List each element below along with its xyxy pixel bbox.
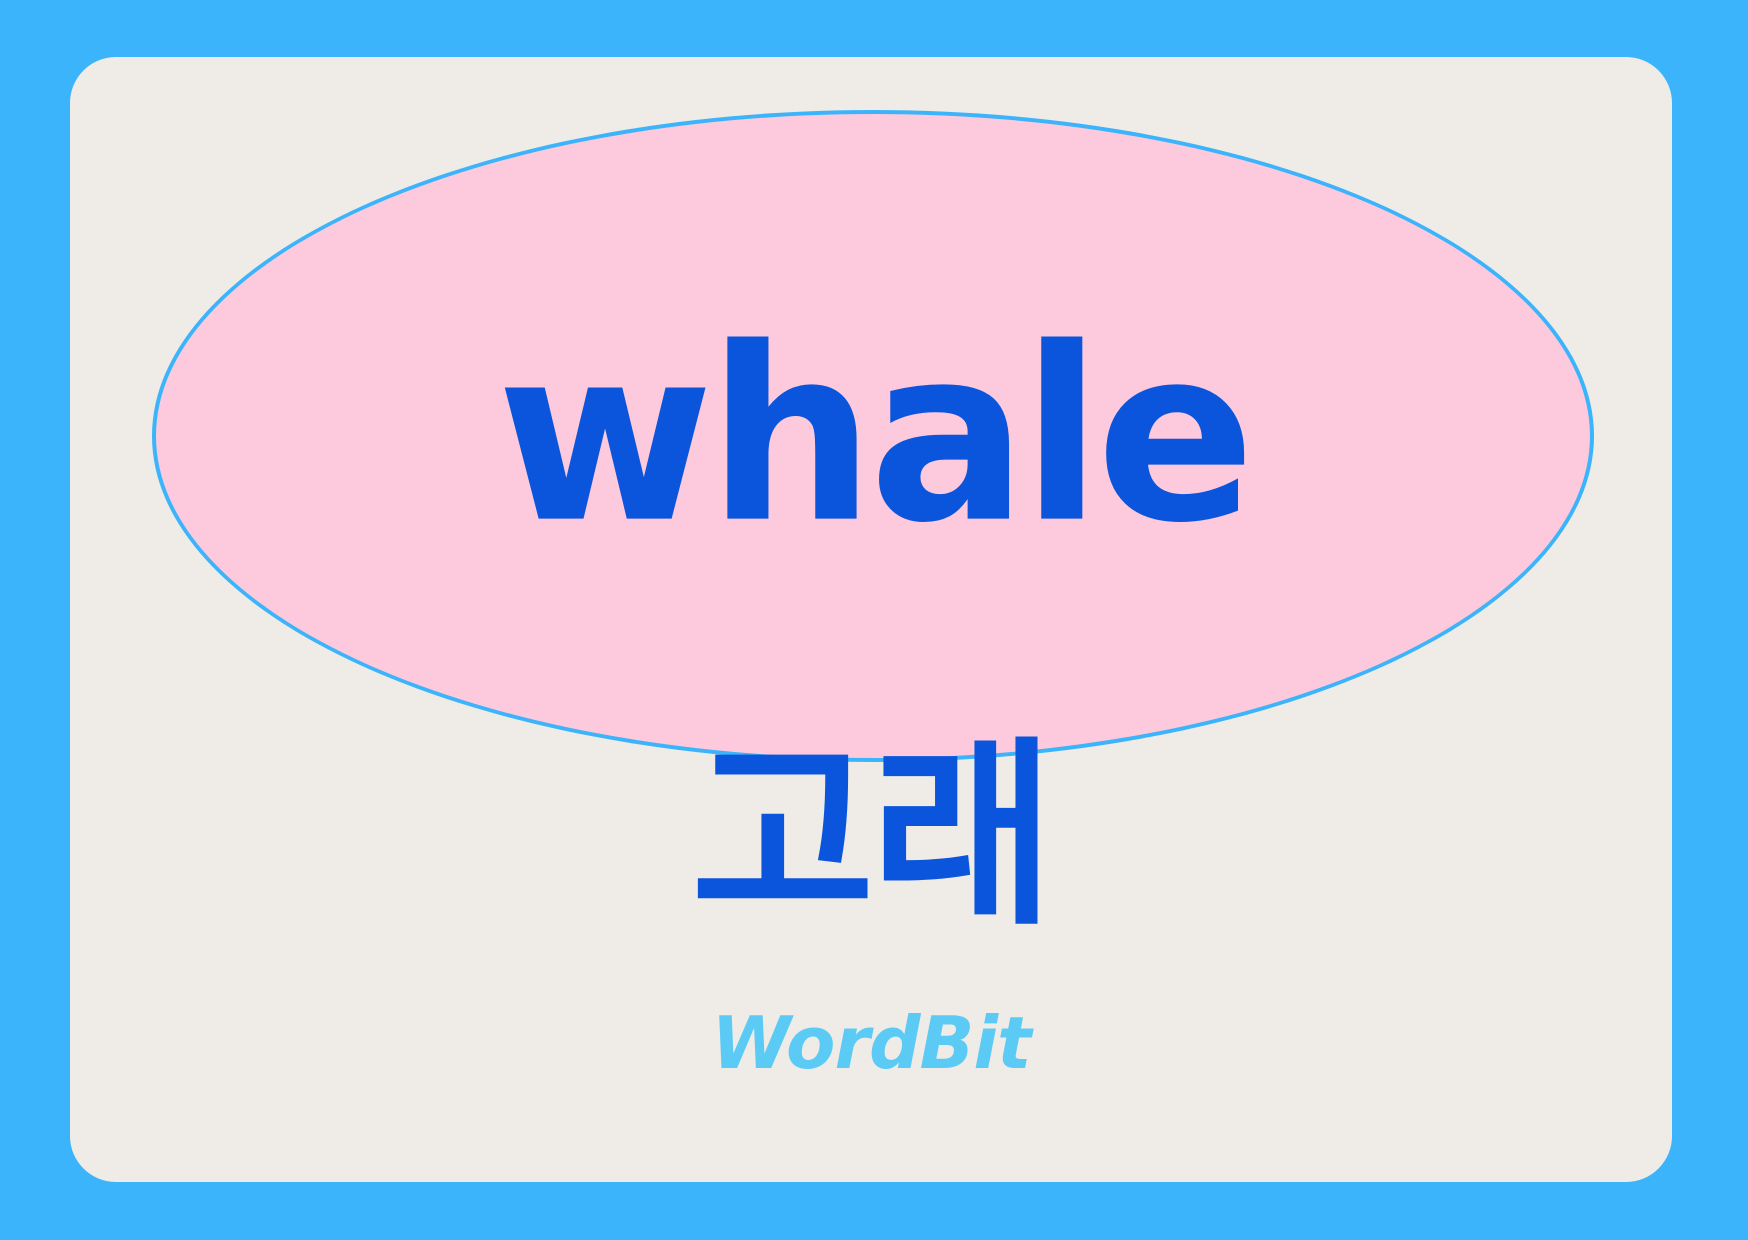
flashcard-card[interactable]: whale 고래 WordBit bbox=[70, 57, 1672, 1182]
term-bubble: whale bbox=[152, 110, 1594, 762]
brand-logo: WordBit bbox=[70, 1007, 1672, 1079]
term-text: whale bbox=[497, 316, 1250, 556]
flashcard-screen: whale 고래 WordBit bbox=[0, 0, 1748, 1240]
translation-text: 고래 bbox=[70, 737, 1672, 937]
